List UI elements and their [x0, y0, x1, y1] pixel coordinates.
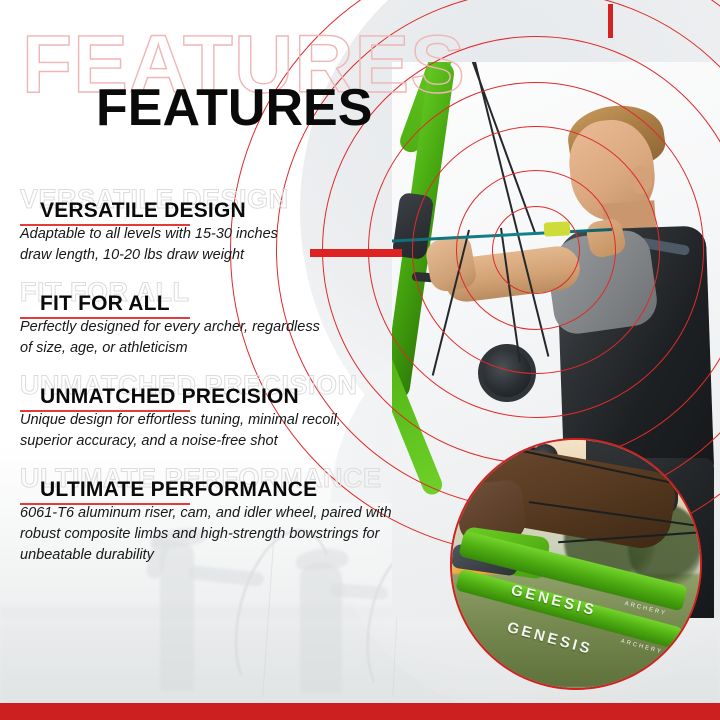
feature-underline-rule [20, 224, 190, 226]
feature-underline-rule [20, 317, 190, 319]
product-closeup-inset: GENESIS ARCHERY GENESIS ARCHERY [450, 438, 702, 690]
page-header: FEATURES FEATURES [22, 24, 442, 134]
arrow-nock [544, 221, 571, 236]
boy-ear [630, 166, 652, 194]
page-title: FEATURES [96, 82, 372, 134]
bow-cam-wheel [478, 344, 536, 402]
feature-underline-rule [20, 503, 190, 505]
feature-infographic-poster: GENESIS ARCHERY GENESIS ARCHERY FEATURES… [0, 0, 720, 720]
feature-underline-rule [20, 410, 190, 412]
feature-title: ULTIMATE PERFORMANCE [40, 479, 317, 500]
feature-item: VERSATILE DESIGN VERSATILE DESIGN Adapta… [0, 186, 440, 265]
feature-title: VERSATILE DESIGN [40, 200, 246, 221]
feature-item: ULTIMATE PERFORMANCE ULTIMATE PERFORMANC… [0, 465, 440, 565]
feature-list: VERSATILE DESIGN VERSATILE DESIGN Adapta… [0, 186, 440, 579]
feature-title: FIT FOR ALL [40, 293, 170, 314]
feature-title: UNMATCHED PRECISION [40, 386, 299, 407]
feature-item: UNMATCHED PRECISION UNMATCHED PRECISION … [0, 372, 440, 451]
feature-item: FIT FOR ALL FIT FOR ALL Perfectly design… [0, 279, 440, 358]
bottom-accent-bar [0, 703, 720, 720]
